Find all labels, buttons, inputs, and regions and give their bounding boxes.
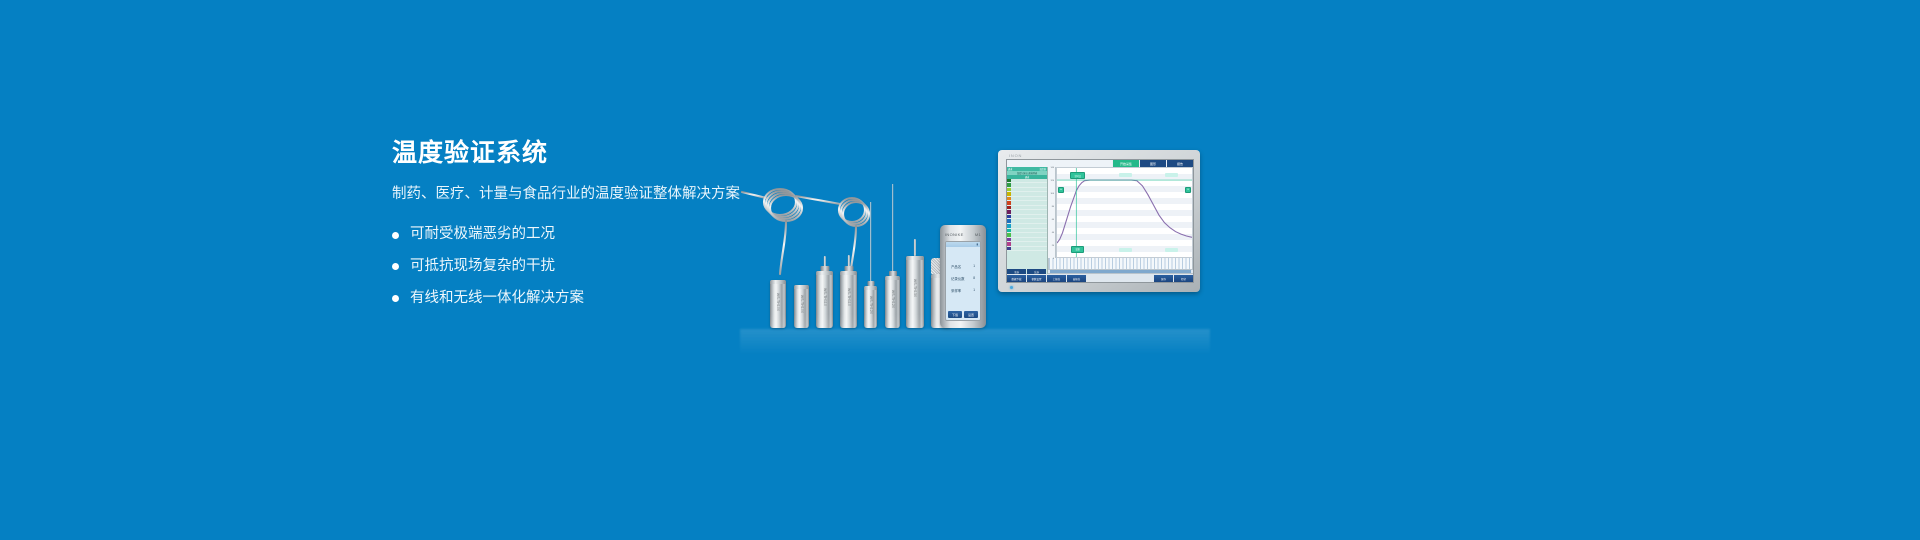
channel-color-swatch xyxy=(1007,183,1011,187)
logger-label: WS-TH120 xyxy=(869,296,873,314)
row-value: 1 xyxy=(973,288,975,292)
cursor-marker-top[interactable]: 计时点 xyxy=(1070,172,1085,179)
y-axis-tick: 40 xyxy=(1052,232,1054,234)
y-axis-tick: 120 xyxy=(1051,180,1054,182)
list-item: WS-TH120 xyxy=(885,276,900,328)
bullet-dot-icon xyxy=(392,232,399,239)
save-button[interactable]: 保存 xyxy=(1154,275,1173,282)
handheld-buttons: 下载 设置 xyxy=(946,309,980,320)
channel-color-swatch xyxy=(1007,179,1011,183)
tab-graph[interactable]: 图形 xyxy=(1140,160,1166,167)
row-value: 8 xyxy=(973,276,975,280)
row-value: 1 xyxy=(973,264,975,268)
table-row[interactable] xyxy=(1007,247,1047,252)
list-item: WS-TH120 xyxy=(864,286,877,328)
list-item: WS-TH110 xyxy=(816,271,833,328)
monitor-brand-text: INON xyxy=(1009,153,1022,158)
list-item: 产品名 1 xyxy=(951,264,975,269)
y-axis-tick: 100 xyxy=(1051,193,1054,195)
feature-text: 可抵抗现场复杂的干扰 xyxy=(410,256,555,278)
handheld-download-button[interactable]: 下载 xyxy=(948,311,962,318)
probe-stem xyxy=(914,239,916,256)
row-label: 记录仪数 xyxy=(951,276,965,281)
needle-probe xyxy=(892,184,894,276)
toolbar-gap xyxy=(1087,275,1153,282)
reflection xyxy=(816,314,833,328)
app-body: 通道 温度值 温度记录仪 通道列表 通道 全选 反选 xyxy=(1007,167,1193,274)
group-reflection xyxy=(740,329,1210,355)
reflection xyxy=(864,314,877,328)
y-axis-tick: 20 xyxy=(1052,245,1054,247)
x-axis-tick-strip xyxy=(1048,258,1193,270)
handheld-reader[interactable]: INONIKE M1 ▮ 产品名 1 记录仪数 8 xyxy=(940,225,986,328)
probe-ferrule xyxy=(889,271,897,276)
ghost-marker xyxy=(1165,173,1178,177)
list-item: WS-TH110 xyxy=(840,271,857,328)
channel-color-swatch xyxy=(1007,242,1011,246)
monitor-screen[interactable]: 开始采集 图形 报告 通道 温度值 温度记录仪 通道列表 xyxy=(1006,159,1194,283)
tab-spacer xyxy=(1007,160,1112,167)
row-label: 采样率 xyxy=(951,288,961,293)
probe-ferrule xyxy=(820,266,829,271)
list-item: 记录仪数 8 xyxy=(951,276,975,281)
probe-ferrule xyxy=(844,266,853,271)
needle-probe xyxy=(870,202,872,286)
handheld-settings-button[interactable]: 设置 xyxy=(964,311,978,318)
list-item: 采样率 1 xyxy=(951,288,975,293)
reflection xyxy=(770,314,786,328)
channel-color-swatch xyxy=(1007,188,1011,192)
bullet-dot-icon xyxy=(392,263,399,270)
channel-color-swatch xyxy=(1007,215,1011,219)
reflection xyxy=(840,314,857,328)
channel-color-swatch xyxy=(1007,210,1011,214)
tab-start-acquisition[interactable]: 开始采集 xyxy=(1113,160,1139,167)
channel-sidebar[interactable]: 通道 温度值 温度记录仪 通道列表 通道 全选 反选 xyxy=(1007,167,1048,274)
logger-label: WS-TH130 xyxy=(913,279,917,297)
hero-banner: 温度验证系统 制药、医疗、计量与食品行业的温度验证整体解决方案 可耐受极端恶劣的… xyxy=(0,0,1920,540)
ghost-marker xyxy=(1119,173,1132,177)
panel-monitor: INON 开始采集 图形 报告 通道 温度值 xyxy=(998,150,1200,292)
bullet-dot-icon xyxy=(392,295,399,302)
list-item: WS-TH100 xyxy=(794,285,809,328)
handheld-info-rows: 产品名 1 记录仪数 8 采样率 1 xyxy=(946,247,980,309)
upload-report-button[interactable]: 上报告 xyxy=(1047,275,1066,282)
list-item: WS-TH100 xyxy=(770,280,786,328)
channel-color-swatch xyxy=(1007,206,1011,210)
reflection xyxy=(885,314,900,328)
reflection xyxy=(794,314,809,328)
power-led-icon xyxy=(1010,286,1013,289)
channel-color-swatch xyxy=(1007,229,1011,233)
level-marker-right[interactable]: B xyxy=(1185,187,1192,194)
feature-text: 可耐受极端恶劣的工况 xyxy=(410,224,555,246)
channel-color-swatch xyxy=(1007,201,1011,205)
temperature-curve-icon xyxy=(1057,168,1192,257)
tab-report[interactable]: 报告 xyxy=(1167,160,1193,167)
channel-color-swatch xyxy=(1007,197,1011,201)
sidebar-row-list[interactable] xyxy=(1007,179,1047,270)
logger-label: WS-TH100 xyxy=(776,292,780,310)
logger-label: WS-TH110 xyxy=(823,288,827,306)
channel-color-swatch xyxy=(1007,233,1011,237)
ghost-marker xyxy=(1119,248,1132,252)
y-axis-tick: 140 xyxy=(1051,167,1054,169)
reflection xyxy=(906,314,924,328)
horizontal-scrollbar[interactable] xyxy=(1048,270,1193,274)
y-axis: 020406080100120140 xyxy=(1048,167,1056,258)
chart-panel: 020406080100120140 xyxy=(1048,167,1193,274)
y-axis-tick: 80 xyxy=(1052,206,1054,208)
plot-area[interactable]: 计时点 结束 A B xyxy=(1056,167,1193,258)
feature-text: 有线和无线一体化解决方案 xyxy=(410,288,584,310)
parameter-settings-button[interactable]: 参数设置 xyxy=(1027,275,1046,282)
channel-color-swatch xyxy=(1007,192,1011,196)
handheld-model-text: M1 xyxy=(975,232,981,237)
level-marker-left[interactable]: A xyxy=(1058,187,1065,194)
cursor-marker-bottom[interactable]: 结束 xyxy=(1071,246,1084,253)
handheld-screen[interactable]: ▮ 产品名 1 记录仪数 8 采样率 1 xyxy=(945,241,981,321)
probe-ferrule xyxy=(867,281,874,286)
list-item: WS-TH130 xyxy=(906,256,924,328)
y-axis-tick: 0 xyxy=(1053,258,1054,260)
handheld-branding: INONIKE M1 xyxy=(940,232,986,237)
logger-label: WS-TH120 xyxy=(891,290,895,308)
channel-color-swatch xyxy=(1007,219,1011,223)
logger-label: WS-TH110 xyxy=(847,288,851,306)
data-download-button[interactable]: 数据下载 xyxy=(1007,275,1026,282)
chart-area: 020406080100120140 xyxy=(1048,167,1193,258)
battery-icon: ▮ xyxy=(977,243,978,246)
product-image-group: WS-TH100 WS-TH100 WS-TH110 WS-TH110 WS-T… xyxy=(740,118,1210,328)
channel-color-swatch xyxy=(1007,247,1011,251)
coiled-probe-wires-icon xyxy=(740,178,930,288)
y-axis-tick: 60 xyxy=(1052,219,1054,221)
ghost-marker xyxy=(1165,248,1178,252)
row-label: 产品名 xyxy=(951,264,961,269)
app-bottom-toolbar: 数据下载 参数设置 上报告 出报告 保存 打印 xyxy=(1007,274,1193,282)
handheld-brand-text: INONIKE xyxy=(945,232,964,237)
export-report-button[interactable]: 出报告 xyxy=(1067,275,1086,282)
logger-label: WS-TH100 xyxy=(800,295,804,313)
app-top-tabs: 开始采集 图形 报告 xyxy=(1007,160,1193,167)
scrollbar-thumb[interactable] xyxy=(1050,270,1191,273)
print-button[interactable]: 打印 xyxy=(1174,275,1193,282)
channel-color-swatch xyxy=(1007,224,1011,228)
channel-color-swatch xyxy=(1007,238,1011,242)
